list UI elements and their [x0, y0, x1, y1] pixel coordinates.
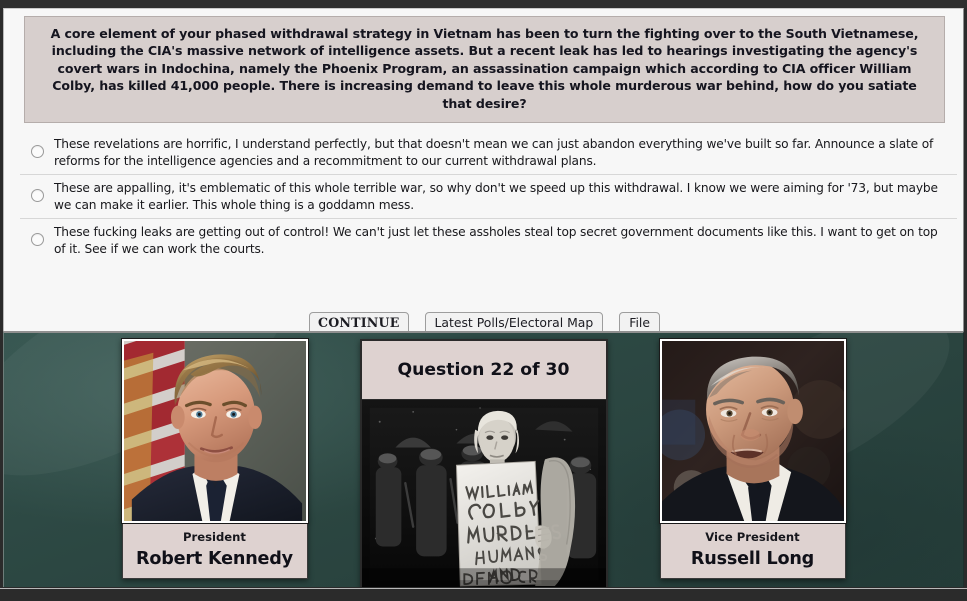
- answer-option-2[interactable]: These are appalling, it's emblematic of …: [20, 174, 957, 218]
- robert-kennedy-portrait: [122, 339, 308, 523]
- vice-president-name: Russell Long: [665, 549, 841, 569]
- latest-polls-electoral-map-button[interactable]: Latest Polls/Electoral Map: [425, 312, 604, 331]
- answer-option-3[interactable]: These fucking leaks are getting out of c…: [20, 218, 957, 262]
- radio-button-option-2[interactable]: [31, 189, 44, 202]
- file-button[interactable]: File: [619, 312, 660, 331]
- radio-button-option-1[interactable]: [31, 145, 44, 158]
- vice-president-label-box: Vice President Russell Long: [660, 523, 846, 579]
- continue-button[interactable]: CONTINUE: [309, 312, 408, 331]
- vice-president-role: Vice President: [665, 530, 841, 544]
- question-counter-box: Question 22 of 30: [360, 339, 608, 400]
- status-panel-content: President Robert Kennedy Question 22 of …: [4, 333, 963, 587]
- radio-button-option-3[interactable]: [31, 233, 44, 246]
- president-card[interactable]: President Robert Kennedy: [122, 339, 308, 579]
- question-counter-card: Question 22 of 30: [360, 339, 608, 587]
- action-button-row: CONTINUE Latest Polls/Electoral Map File: [12, 312, 957, 331]
- game-window: A core element of your phased withdrawal…: [0, 0, 967, 601]
- answer-option-1-label[interactable]: These revelations are horrific, I unders…: [54, 136, 957, 169]
- prompt-text: A core element of your phased withdrawal…: [39, 25, 930, 112]
- president-name: Robert Kennedy: [127, 549, 303, 569]
- question-panel: A core element of your phased withdrawal…: [3, 8, 964, 331]
- status-panel: President Robert Kennedy Question 22 of …: [3, 331, 964, 587]
- answer-option-3-label[interactable]: These fucking leaks are getting out of c…: [54, 224, 957, 257]
- president-role: President: [127, 530, 303, 544]
- protest-photo-art: [362, 400, 606, 587]
- portrait-art: [662, 341, 844, 521]
- question-panel-inner: A core element of your phased withdrawal…: [12, 9, 957, 331]
- window-chrome-bottom: [0, 588, 967, 601]
- answer-option-2-label[interactable]: These are appalling, it's emblematic of …: [54, 180, 957, 213]
- question-counter-text: Question 22 of 30: [398, 360, 570, 380]
- vice-president-card[interactable]: Vice President Russell Long: [660, 339, 846, 579]
- answer-options-list: These revelations are horrific, I unders…: [20, 131, 957, 263]
- window-chrome-top: [0, 0, 967, 8]
- prompt-box: A core element of your phased withdrawal…: [24, 16, 945, 123]
- russell-long-portrait: [660, 339, 846, 523]
- answer-option-1[interactable]: These revelations are horrific, I unders…: [20, 131, 957, 174]
- portrait-art: [124, 341, 306, 521]
- protest-photograph: [360, 400, 608, 587]
- president-label-box: President Robert Kennedy: [122, 523, 308, 579]
